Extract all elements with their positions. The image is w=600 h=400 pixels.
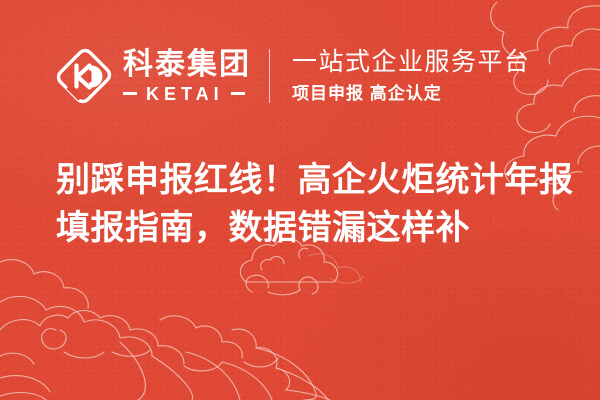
wordmark-rule-right [231,92,245,95]
tagline-sub: 项目申报 高企认定 [292,84,531,104]
brand-logo[interactable]: 科泰集团 KETAI [56,40,251,112]
brand-name-cn: 科泰集团 [123,49,251,81]
brand-name-en: KETAI [137,85,231,103]
title-line-2: 填报指南，数据错漏这样补 [56,204,566,252]
auspicious-cloud-bottom-right [308,254,364,283]
title-line-1: 别踩申报红线！高企火炬统计年报 [56,156,566,204]
brand-name-en-row: KETAI [123,85,251,103]
ketai-diamond-kd-logo-icon [56,48,112,104]
banner-header: 科泰集团 KETAI 一站式企业服务平台 项目申报 高企认定 [56,40,531,112]
tagline-main: 一站式企业服务平台 [292,48,531,78]
promo-banner: 科泰集团 KETAI 一站式企业服务平台 项目申报 高企认定 别踩申报红线！高企… [0,0,600,400]
auspicious-cloud-bottom-left [0,260,330,400]
header-divider [269,49,270,103]
tagline-block: 一站式企业服务平台 项目申报 高企认定 [292,48,531,105]
banner-title: 别踩申报红线！高企火炬统计年报 填报指南，数据错漏这样补 [56,156,566,253]
brand-wordmark: 科泰集团 KETAI [123,49,251,102]
wordmark-rule-left [123,92,137,95]
